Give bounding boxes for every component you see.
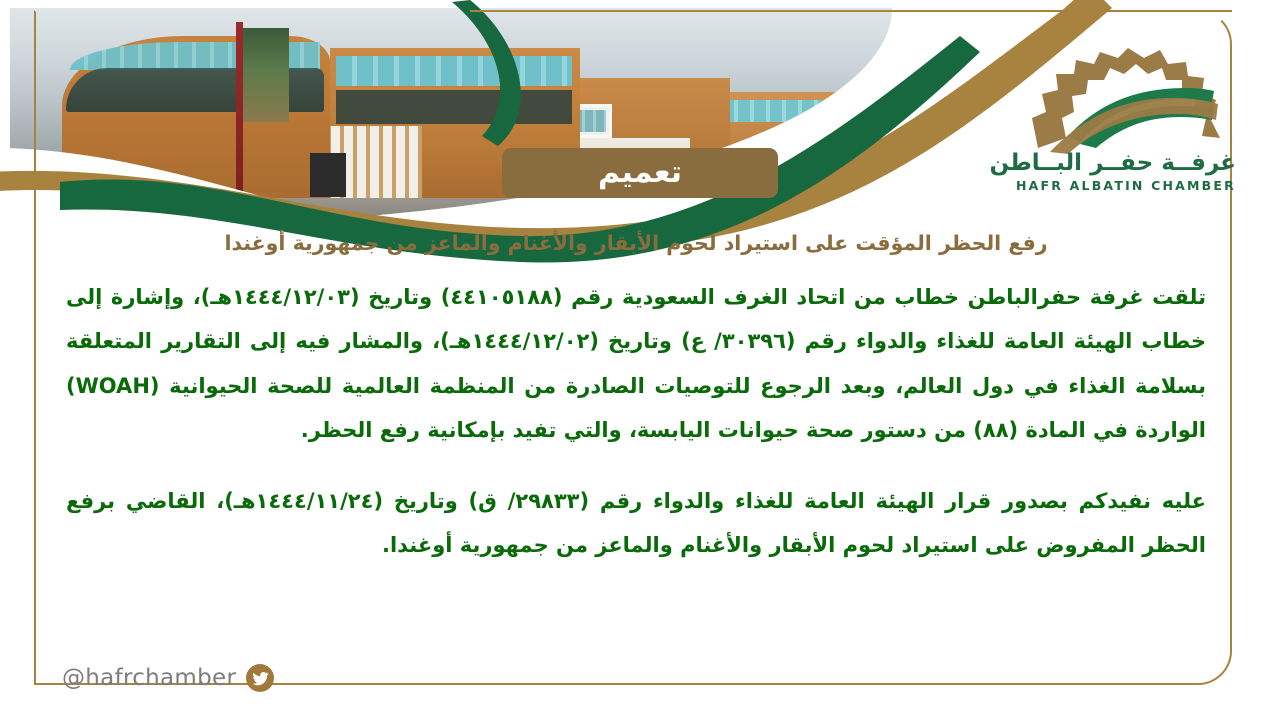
chamber-logo-mark-icon (1016, 44, 1236, 156)
twitter-icon[interactable] (246, 664, 274, 692)
circular-type-label: تعميم (598, 158, 682, 188)
circular-type-banner: تعميم (502, 148, 778, 198)
paragraph-2: عليه نفيدكم بصدور قرار الهيئة العامة للغ… (66, 479, 1206, 568)
chamber-logo: غرفــة حفــر البــاطن HAFR ALBATIN CHAMB… (1016, 44, 1236, 204)
green-accent-tip (452, 0, 521, 146)
paragraph-1: تلقت غرفة حفرالباطن خطاب من اتحاد الغرف … (66, 275, 1206, 453)
logo-arabic-name: غرفــة حفــر البــاطن (1016, 150, 1236, 176)
twitter-handle[interactable]: @hafrchamber (62, 665, 236, 691)
document-body: رفع الحظر المؤقت على استيراد لحوم الأبقا… (66, 228, 1206, 586)
page-title: رفع الحظر المؤقت على استيراد لحوم الأبقا… (66, 228, 1206, 259)
logo-english-name: HAFR ALBATIN CHAMBER (1016, 178, 1236, 193)
circular-poster: تعميم غرفــة حفــر البــاطن HAFR ALBATIN… (0, 0, 1280, 720)
page-border-top-segment (470, 10, 1232, 12)
social-footer[interactable]: @hafrchamber (62, 664, 274, 692)
logo-brown-hill (1050, 98, 1218, 154)
